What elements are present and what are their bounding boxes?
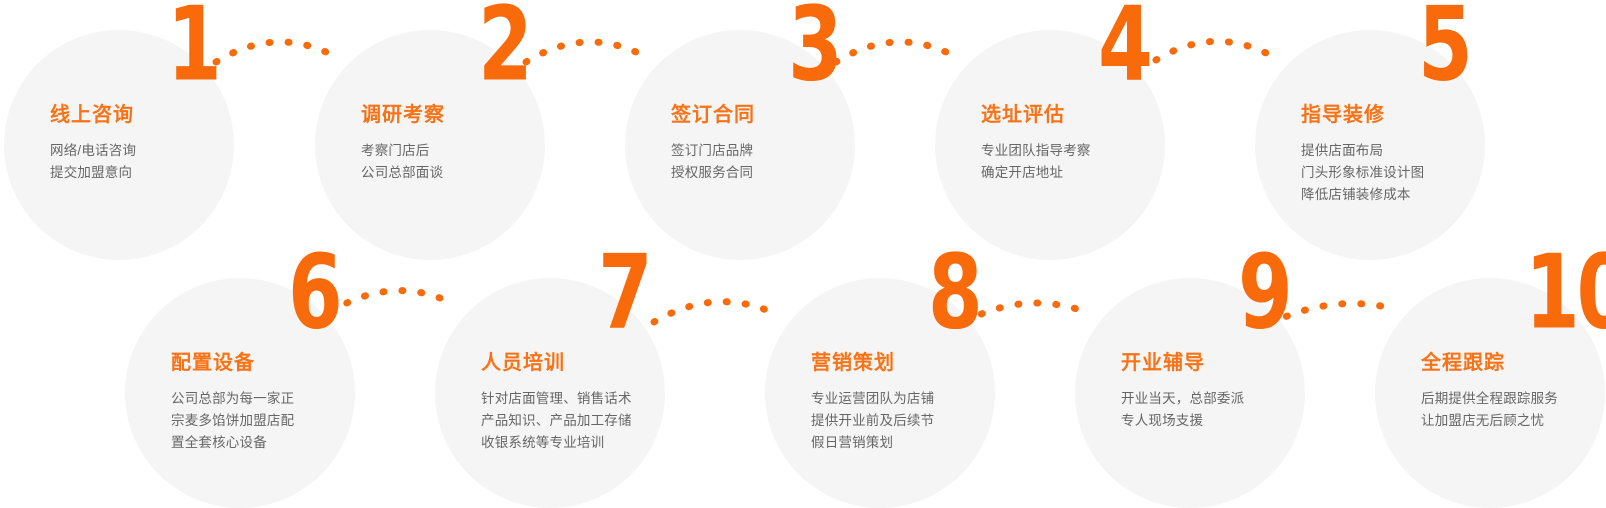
- step-number: 9: [1238, 246, 1289, 338]
- step-title: 全程跟踪: [1421, 350, 1606, 376]
- connector-4-to-5-icon: [1152, 20, 1272, 64]
- step-description: 专业团队指导考察 确定开店地址: [981, 140, 1191, 184]
- step-title: 开业辅导: [1121, 350, 1331, 376]
- step-number: 3: [788, 0, 839, 90]
- step-description: 专业运营团队为店铺 提供开业前及后续节 假日营销策划: [811, 388, 1021, 454]
- process-step-6[interactable]: 6 配置设备 公司总部为每一家正 宗麦多馅饼加盟店配 置全套核心设备: [125, 278, 355, 508]
- step-content: 调研考察 考察门店后 公司总部面谈: [361, 102, 571, 184]
- step-content: 指导装修 提供店面布局 门头形象标准设计图 降低店铺装修成本: [1301, 102, 1511, 206]
- step-title: 选址评估: [981, 102, 1191, 128]
- process-step-7[interactable]: 7 人员培训 针对店面管理、销售话术 产品知识、产品加工存储 收银系统等专业培训: [435, 278, 665, 508]
- step-content: 配置设备 公司总部为每一家正 宗麦多馅饼加盟店配 置全套核心设备: [171, 350, 381, 454]
- step-content: 开业辅导 开业当天，总部委派 专人现场支援: [1121, 350, 1331, 432]
- step-description: 公司总部为每一家正 宗麦多馅饼加盟店配 置全套核心设备: [171, 388, 381, 454]
- step-description: 提供店面布局 门头形象标准设计图 降低店铺装修成本: [1301, 140, 1511, 206]
- connector-7-to-8-icon: [650, 282, 780, 328]
- step-content: 线上咨询 网络/电话咨询 提交加盟意向: [50, 102, 260, 184]
- step-number: 8: [928, 246, 979, 338]
- step-description: 签订门店品牌 授权服务合同: [671, 140, 881, 184]
- step-description: 开业当天，总部委派 专人现场支援: [1121, 388, 1331, 432]
- step-content: 选址评估 专业团队指导考察 确定开店地址: [981, 102, 1191, 184]
- step-title: 指导装修: [1301, 102, 1511, 128]
- step-number: 2: [478, 0, 529, 90]
- step-description: 网络/电话咨询 提交加盟意向: [50, 140, 260, 184]
- step-number: 1: [167, 0, 218, 90]
- process-step-4[interactable]: 4 选址评估 专业团队指导考察 确定开店地址: [935, 30, 1165, 260]
- step-description: 考察门店后 公司总部面谈: [361, 140, 571, 184]
- step-number: 4: [1098, 0, 1149, 90]
- process-step-2[interactable]: 2 调研考察 考察门店后 公司总部面谈: [315, 30, 545, 260]
- step-number: 6: [288, 246, 339, 338]
- process-step-10[interactable]: 10 全程跟踪 后期提供全程跟踪服务 让加盟店无后顾之忧: [1375, 278, 1605, 508]
- process-step-9[interactable]: 9 开业辅导 开业当天，总部委派 专人现场支援: [1075, 278, 1305, 508]
- step-title: 签订合同: [671, 102, 881, 128]
- step-title: 营销策划: [811, 350, 1021, 376]
- step-description: 后期提供全程跟踪服务 让加盟店无后顾之忧: [1421, 388, 1606, 432]
- step-content: 全程跟踪 后期提供全程跟踪服务 让加盟店无后顾之忧: [1421, 350, 1606, 432]
- step-number: 7: [598, 246, 649, 338]
- process-step-3[interactable]: 3 签订合同 签订门店品牌 授权服务合同: [625, 30, 855, 260]
- step-description: 针对店面管理、销售话术 产品知识、产品加工存储 收银系统等专业培训: [481, 388, 691, 454]
- step-content: 人员培训 针对店面管理、销售话术 产品知识、产品加工存储 收银系统等专业培训: [481, 350, 691, 454]
- franchise-process-flow: 1 线上咨询 网络/电话咨询 提交加盟意向 2 调研考察 考察门店后 公司总部面…: [0, 0, 1606, 508]
- step-title: 线上咨询: [50, 102, 260, 128]
- process-step-5[interactable]: 5 指导装修 提供店面布局 门头形象标准设计图 降低店铺装修成本: [1255, 30, 1485, 260]
- step-title: 人员培训: [481, 350, 691, 376]
- step-title: 配置设备: [171, 350, 381, 376]
- step-title: 调研考察: [361, 102, 571, 128]
- step-content: 签订合同 签订门店品牌 授权服务合同: [671, 102, 881, 184]
- step-number: 5: [1418, 0, 1469, 90]
- step-content: 营销策划 专业运营团队为店铺 提供开业前及后续节 假日营销策划: [811, 350, 1021, 454]
- step-number: 10: [1525, 246, 1606, 338]
- process-step-8[interactable]: 8 营销策划 专业运营团队为店铺 提供开业前及后续节 假日营销策划: [765, 278, 995, 508]
- process-step-1[interactable]: 1 线上咨询 网络/电话咨询 提交加盟意向: [4, 30, 234, 260]
